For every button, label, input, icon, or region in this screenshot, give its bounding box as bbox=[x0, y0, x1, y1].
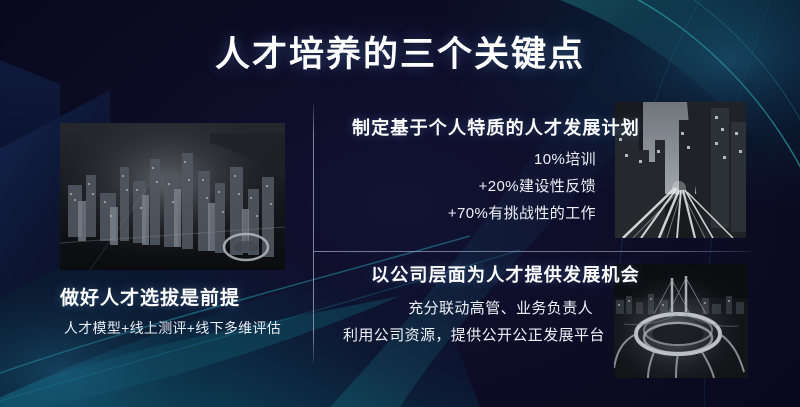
right-block-1-line-2: +20%建设性反馈 bbox=[346, 173, 596, 200]
right-block-1-heading: 制定基于个人特质的人才发展计划 bbox=[352, 114, 640, 140]
aerial-night-city-photo bbox=[60, 123, 285, 270]
slide-canvas: 人才培养的三个关键点 bbox=[0, 0, 800, 407]
vertical-divider bbox=[313, 104, 314, 363]
page-title: 人才培养的三个关键点 bbox=[0, 26, 800, 77]
right-block-1-line-3: +70%有挑战性的工作 bbox=[346, 200, 596, 227]
right-block-2-line-2: 利用公司资源，提供公开公正发展平台 bbox=[343, 322, 593, 349]
right-block-1-lines: 10%培训 +20%建设性反馈 +70%有挑战性的工作 bbox=[346, 146, 596, 227]
horizontal-divider bbox=[314, 251, 751, 252]
left-block-subtitle: 人才模型+线上测评+线下多维评估 bbox=[60, 318, 285, 338]
left-block-heading: 做好人才选拔是前提 bbox=[60, 283, 240, 310]
right-block-1-line-1: 10%培训 bbox=[346, 146, 596, 173]
right-block-2-heading: 以公司层面为人才提供发展机会 bbox=[371, 261, 640, 287]
right-block-2-line-1: 充分联动高管、业务负责人 bbox=[343, 295, 593, 322]
right-block-2-lines: 充分联动高管、业务负责人 利用公司资源，提供公开公正发展平台 bbox=[343, 295, 593, 349]
